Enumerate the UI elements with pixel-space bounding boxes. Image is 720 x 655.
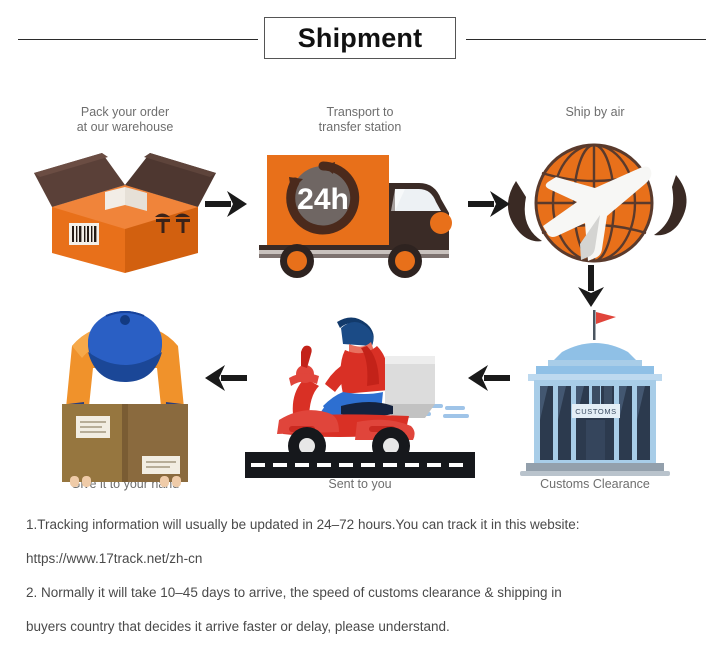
note-line-1: 1.Tracking information will usually be u… bbox=[26, 508, 706, 542]
note-line-3: buyers country that decides it arrive fa… bbox=[26, 610, 706, 644]
arrow-customs-to-sent bbox=[466, 360, 512, 396]
step-customs: Customs Clearance bbox=[480, 300, 710, 490]
step-air: Ship by air bbox=[480, 95, 710, 285]
arrow-transport-to-air bbox=[466, 186, 512, 222]
arrow-pack-to-transport bbox=[203, 186, 249, 222]
step-sent: Sent to you bbox=[245, 300, 475, 490]
customs-sign-text: CUSTOMS bbox=[575, 407, 617, 416]
globe-airplane-icon bbox=[480, 95, 710, 285]
steps-row-top: Pack your order at our warehouse bbox=[0, 95, 720, 285]
shipping-notes: 1.Tracking information will usually be u… bbox=[26, 508, 706, 644]
arrow-air-to-customs bbox=[573, 263, 609, 309]
steps-row-bottom: Give it to your hand bbox=[0, 300, 720, 490]
delivery-truck-icon: 24h bbox=[245, 95, 475, 285]
arrow-sent-to-hand bbox=[203, 360, 249, 396]
truck-badge-text: 24h bbox=[297, 183, 349, 216]
step-transport: Transport to transfer station 24h bbox=[245, 95, 475, 285]
header-rule-left bbox=[18, 39, 258, 40]
header-rule-right bbox=[466, 39, 706, 40]
note-line-2: 2. Normally it will take 10–45 days to a… bbox=[26, 576, 706, 610]
scooter-courier-icon bbox=[245, 300, 475, 490]
page-title-box: Shipment bbox=[264, 17, 456, 59]
customs-building-icon: CUSTOMS bbox=[480, 300, 710, 490]
page-title: Shipment bbox=[298, 23, 423, 54]
tracking-url[interactable]: https://www.17track.net/zh-cn bbox=[26, 542, 706, 576]
page-header: Shipment bbox=[0, 0, 720, 80]
